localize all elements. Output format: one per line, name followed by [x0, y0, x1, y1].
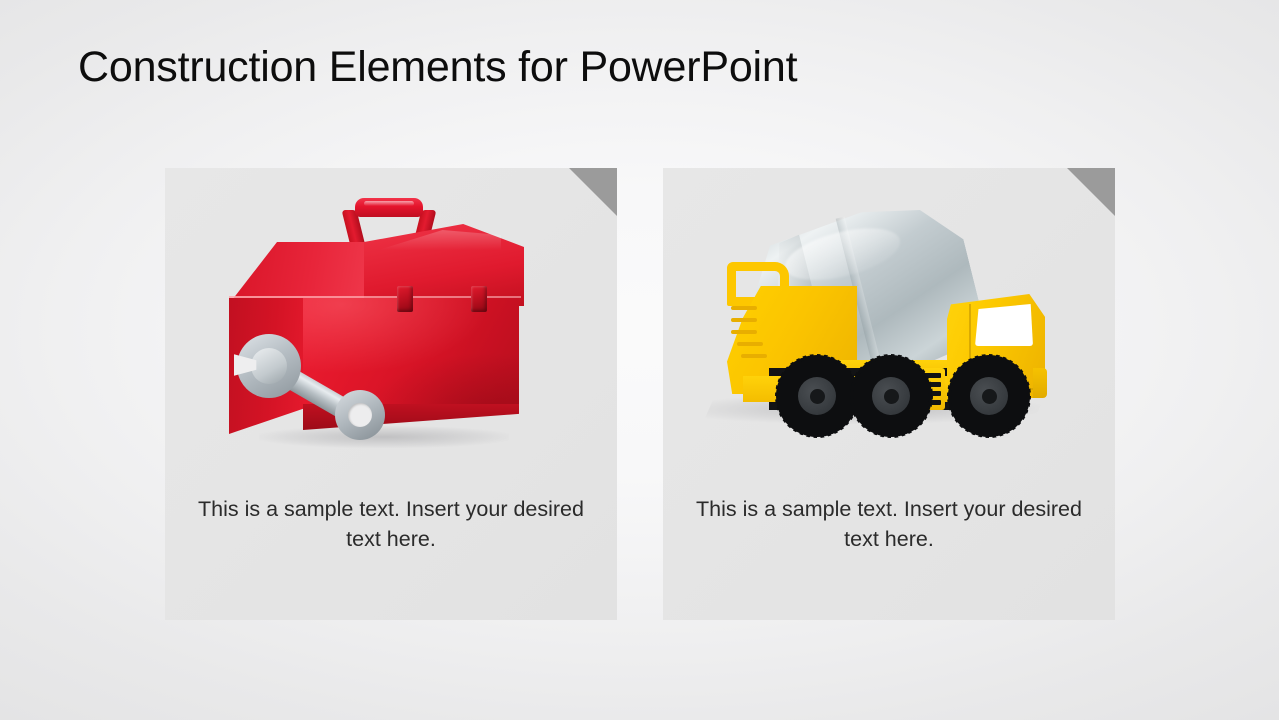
handle-bar: [355, 198, 423, 217]
wheel-hub: [798, 377, 836, 415]
hopper-rib: [741, 354, 767, 358]
truck-wheel-front: [951, 358, 1027, 434]
wrench-ring-end: [335, 390, 385, 440]
cab-window: [975, 304, 1033, 346]
hopper-rib: [731, 318, 757, 322]
wrench-icon: [231, 332, 396, 444]
card-caption: This is a sample text. Insert your desir…: [195, 494, 587, 554]
mixer-truck-card[interactable]: This is a sample text. Insert your desir…: [663, 168, 1115, 620]
front-bumper: [1033, 368, 1047, 398]
truck-illustration: [707, 208, 1067, 468]
wrench-open-jaw: [237, 334, 301, 398]
toolbox-lid-left: [229, 242, 379, 304]
truck-wheel-rear: [779, 358, 855, 434]
hopper-rib: [731, 330, 757, 334]
toolbox-latch-right: [471, 286, 487, 312]
toolbox-latch-left: [397, 286, 413, 312]
toolbox-card[interactable]: This is a sample text. Insert your desir…: [165, 168, 617, 620]
truck-wheel-middle: [853, 358, 929, 434]
toolbox-illustration: [231, 190, 531, 480]
toolbox-with-wrench-icon: [165, 190, 617, 480]
wheel-hub: [872, 377, 910, 415]
wheel-hub: [970, 377, 1008, 415]
page-title: Construction Elements for PowerPoint: [78, 40, 797, 94]
card-caption: This is a sample text. Insert your desir…: [693, 494, 1085, 554]
cement-mixer-truck-icon: [663, 190, 1115, 480]
wrench-jaw-inner: [251, 348, 287, 384]
hopper-rib: [731, 306, 757, 310]
hopper-rib: [737, 342, 763, 346]
